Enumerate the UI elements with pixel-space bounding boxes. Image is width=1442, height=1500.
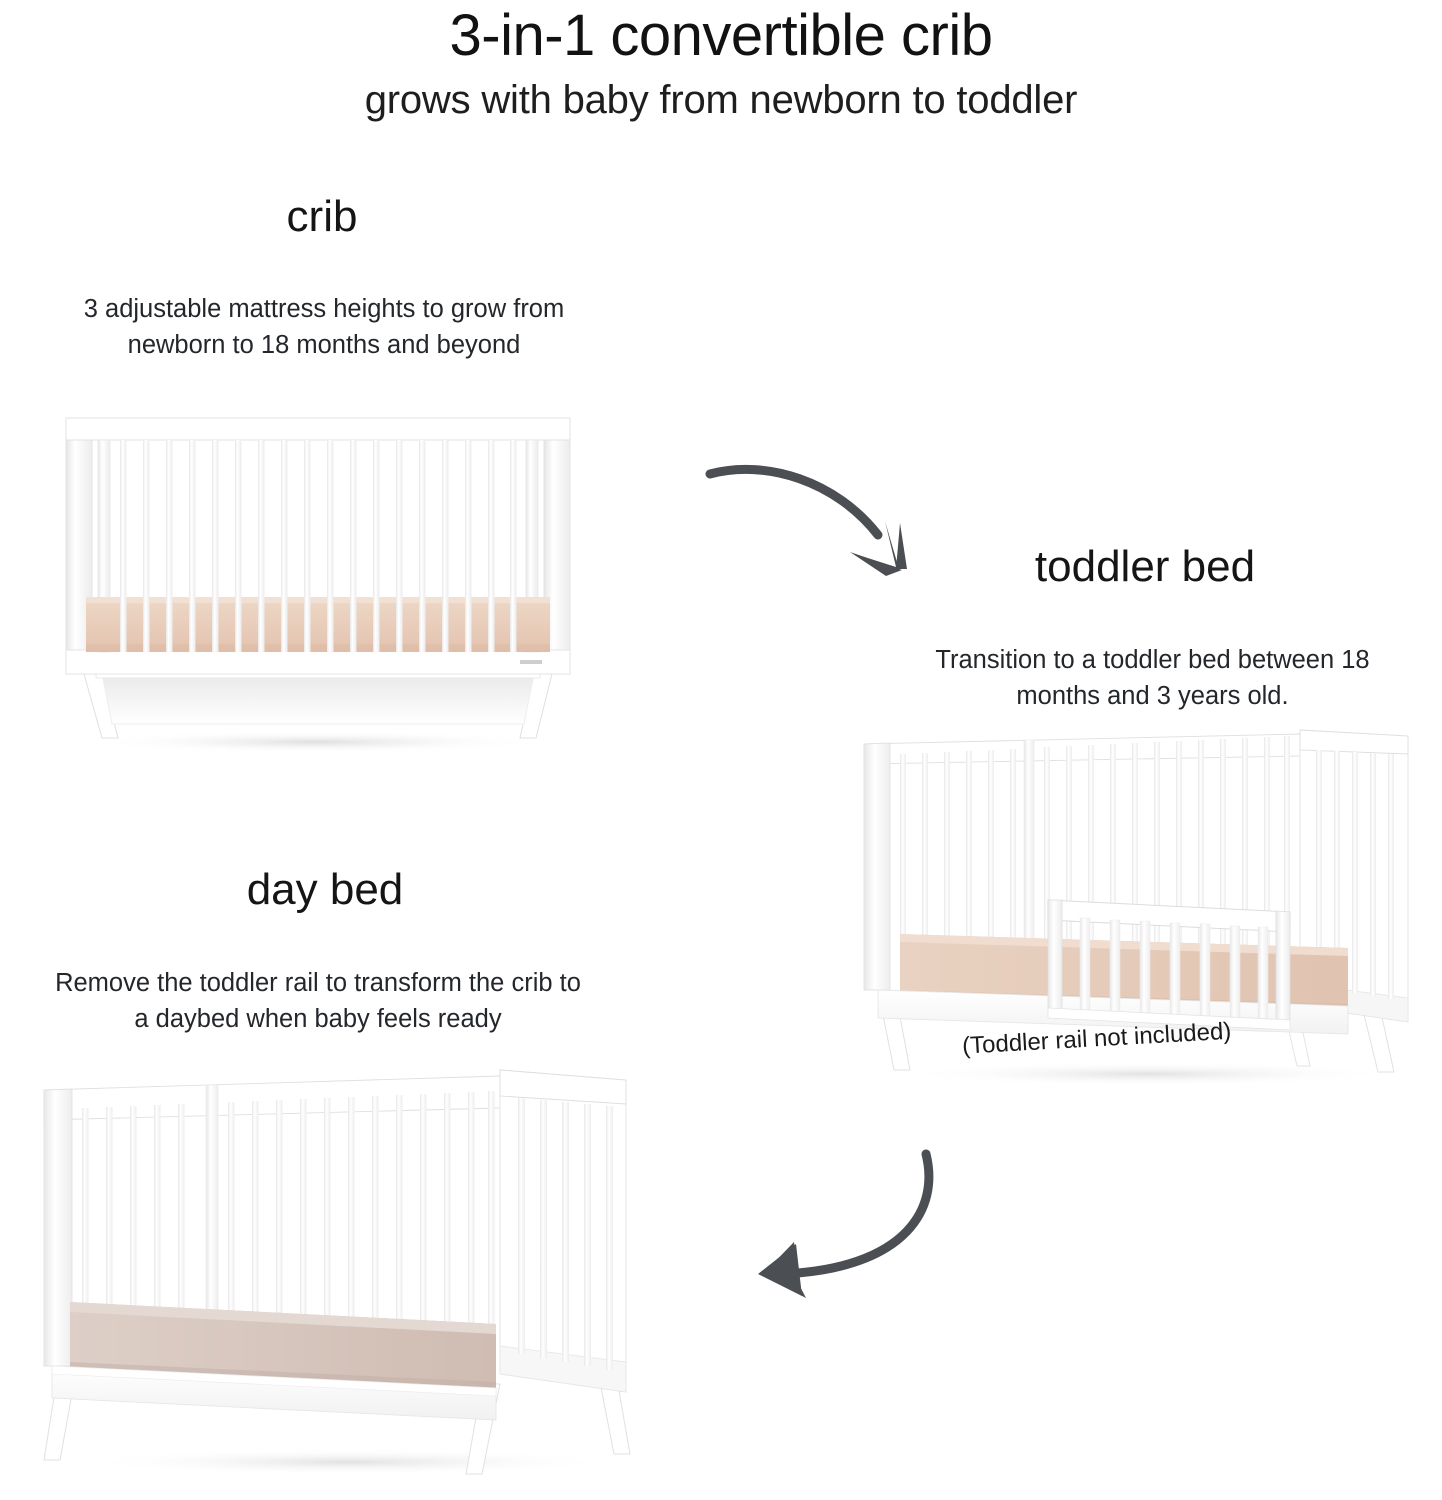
section-heading-day-bed: day bed [145,866,505,914]
section-caption-toddler-bed: Transition to a toddler bed between 18 m… [900,642,1405,714]
infographic-page: 3-in-1 convertible crib grows with baby … [0,0,1442,1500]
section-heading-toddler-bed: toddler bed [920,543,1370,591]
curved-arrow-down-left-icon [728,1148,983,1320]
page-subtitle: grows with baby from newborn to toddler [0,69,1442,124]
crib-illustration [58,412,578,757]
headline-block: 3-in-1 convertible crib grows with baby … [0,0,1442,124]
day-bed-illustration [30,1062,650,1482]
section-caption-crib: 3 adjustable mattress heights to grow fr… [60,291,588,363]
page-title: 3-in-1 convertible crib [0,0,1442,69]
section-heading-crib: crib [142,193,502,241]
section-caption-day-bed: Remove the toddler rail to transform the… [54,965,582,1037]
